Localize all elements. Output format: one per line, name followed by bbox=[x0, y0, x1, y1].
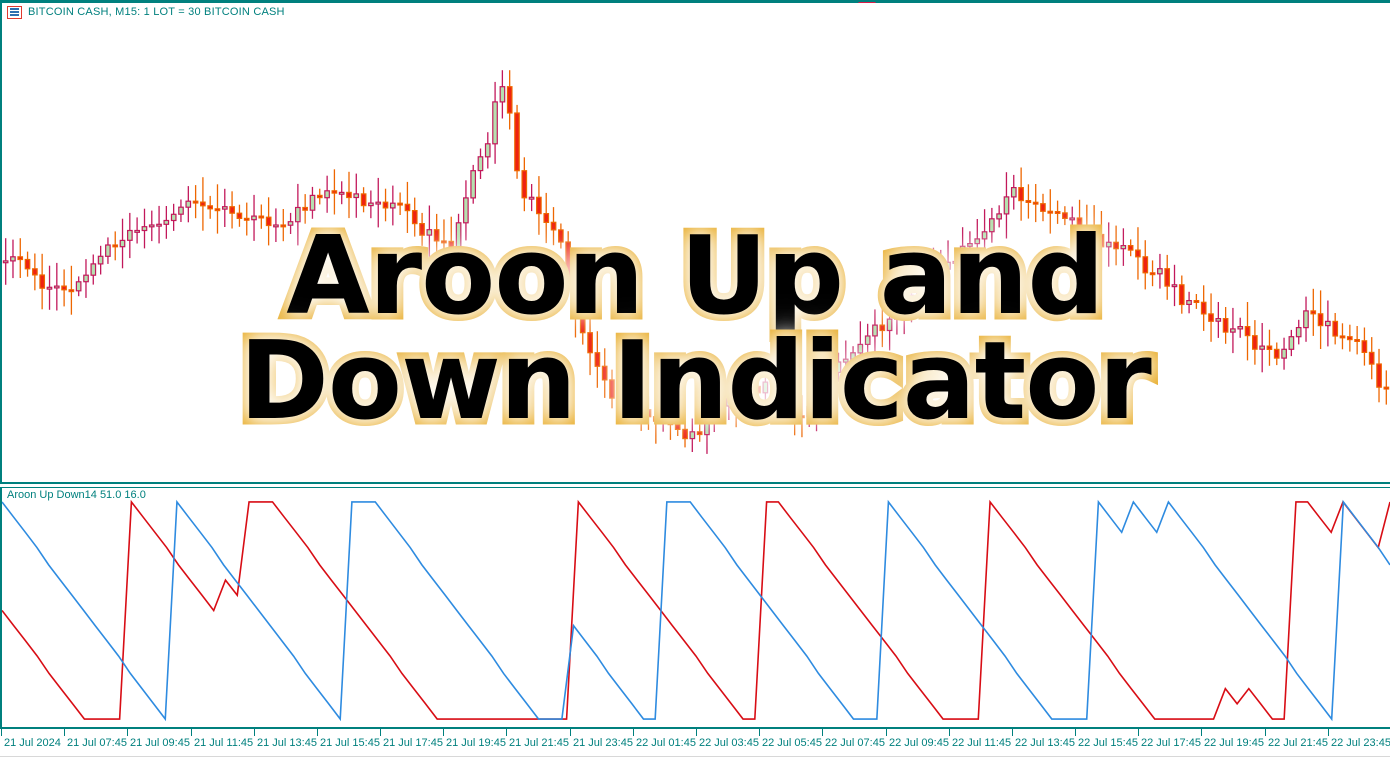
axis-tick bbox=[1, 727, 2, 736]
axis-tick bbox=[380, 727, 381, 736]
trading-chart-screenshot: BITCOIN CASH, M15: 1 LOT = 30 BITCOIN CA… bbox=[0, 0, 1390, 760]
panel-separator bbox=[0, 482, 1390, 484]
axis-tick bbox=[127, 727, 128, 736]
axis-tick-label: 22 Jul 05:45 bbox=[762, 737, 822, 749]
axis-tick bbox=[759, 727, 760, 736]
axis-tick-label: 22 Jul 11:45 bbox=[952, 737, 1011, 749]
axis-tick bbox=[191, 727, 192, 736]
axis-tick bbox=[64, 727, 65, 736]
axis-tick-label: 21 Jul 2024 bbox=[4, 737, 61, 749]
axis-tick-label: 22 Jul 15:45 bbox=[1078, 737, 1138, 749]
axis-tick-label: 22 Jul 01:45 bbox=[636, 737, 696, 749]
axis-tick-label: 22 Jul 03:45 bbox=[699, 737, 759, 749]
axis-tick bbox=[696, 727, 697, 736]
axis-tick-label: 22 Jul 23:45 bbox=[1331, 737, 1390, 749]
axis-tick-label: 21 Jul 11:45 bbox=[194, 737, 253, 749]
axis-tick bbox=[822, 727, 823, 736]
axis-tick bbox=[1138, 727, 1139, 736]
symbol-label: BITCOIN CASH, M15: 1 LOT = 30 BITCOIN CA… bbox=[28, 6, 285, 18]
candlestick-series bbox=[2, 3, 1390, 482]
axis-tick bbox=[633, 727, 634, 736]
axis-tick bbox=[886, 727, 887, 736]
aroon-indicator-panel[interactable]: Aroon Up Down14 51.0 16.0 bbox=[0, 487, 1390, 727]
axis-tick-label: 21 Jul 15:45 bbox=[320, 737, 380, 749]
axis-baseline bbox=[0, 756, 1390, 757]
axis-tick bbox=[317, 727, 318, 736]
price-chart-panel[interactable]: BITCOIN CASH, M15: 1 LOT = 30 BITCOIN CA… bbox=[0, 3, 1390, 482]
axis-tick bbox=[949, 727, 950, 736]
axis-tick-label: 21 Jul 13:45 bbox=[257, 737, 317, 749]
axis-tick bbox=[1012, 727, 1013, 736]
axis-tick bbox=[1075, 727, 1076, 736]
axis-tick-label: 21 Jul 09:45 bbox=[130, 737, 190, 749]
aroon-series bbox=[2, 488, 1390, 727]
axis-tick bbox=[570, 727, 571, 736]
axis-tick bbox=[443, 727, 444, 736]
axis-tick-label: 22 Jul 09:45 bbox=[889, 737, 949, 749]
axis-tick bbox=[1265, 727, 1266, 736]
indicator-label: Aroon Up Down14 51.0 16.0 bbox=[7, 489, 146, 501]
axis-tick-label: 22 Jul 07:45 bbox=[825, 737, 885, 749]
axis-tick-label: 21 Jul 07:45 bbox=[67, 737, 127, 749]
aroon-up-line bbox=[2, 502, 1390, 719]
axis-tick-label: 21 Jul 17:45 bbox=[383, 737, 443, 749]
axis-tick-label: 22 Jul 19:45 bbox=[1204, 737, 1264, 749]
axis-tick-label: 21 Jul 23:45 bbox=[573, 737, 633, 749]
time-axis[interactable]: 21 Jul 202421 Jul 07:4521 Jul 09:4521 Ju… bbox=[0, 727, 1390, 760]
symbol-bar: BITCOIN CASH, M15: 1 LOT = 30 BITCOIN CA… bbox=[2, 3, 285, 21]
axis-tick bbox=[1328, 727, 1329, 736]
axis-tick-label: 22 Jul 17:45 bbox=[1141, 737, 1201, 749]
axis-tick bbox=[254, 727, 255, 736]
axis-tick bbox=[506, 727, 507, 736]
axis-tick-label: 21 Jul 21:45 bbox=[509, 737, 569, 749]
axis-tick-label: 22 Jul 21:45 bbox=[1268, 737, 1328, 749]
axis-tick-label: 22 Jul 13:45 bbox=[1015, 737, 1075, 749]
axis-tick bbox=[1201, 727, 1202, 736]
axis-tick-label: 21 Jul 19:45 bbox=[446, 737, 506, 749]
aroon-down-line bbox=[2, 502, 1390, 719]
document-list-icon bbox=[7, 6, 22, 19]
axis-line bbox=[0, 727, 1390, 729]
